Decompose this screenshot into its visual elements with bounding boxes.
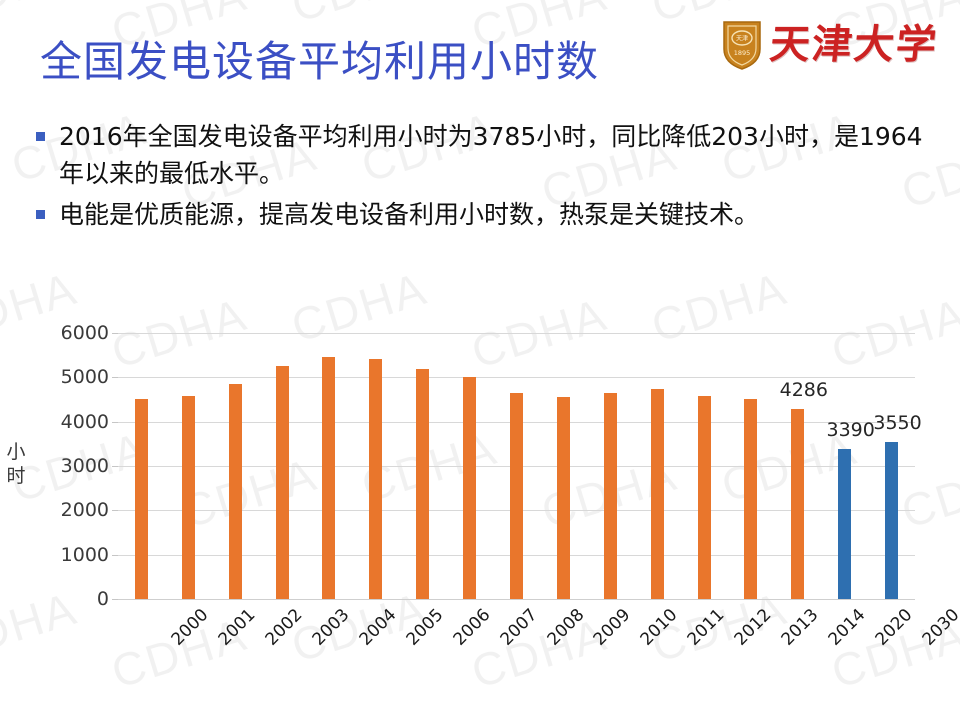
bullet-text: 2016年全国发电设备平均利用小时为3785小时，同比降低203小时，是1964… — [59, 118, 942, 192]
x-axis-tick-label: 2004 — [356, 605, 401, 650]
y-axis-tick-label: 5000 — [61, 366, 109, 388]
x-axis-tick-label: 2030 — [918, 605, 960, 650]
x-axis-tick-label: 2005 — [403, 605, 448, 650]
bar — [744, 399, 757, 599]
x-axis-tick-label: 2012 — [731, 605, 776, 650]
x-axis-tick-label: 2003 — [309, 605, 354, 650]
grid-line — [118, 333, 915, 334]
x-axis-tick-label: 2000 — [168, 605, 213, 650]
x-axis-tick-label: 2001 — [215, 605, 260, 650]
y-tick-mark — [112, 555, 118, 556]
y-tick-mark — [112, 422, 118, 423]
y-axis-tick-label: 0 — [97, 588, 109, 610]
bar — [885, 442, 898, 599]
y-tick-mark — [112, 466, 118, 467]
shield-year-text: 1895 — [734, 49, 751, 57]
bar — [135, 399, 148, 599]
data-label: 3550 — [873, 412, 921, 434]
bullet-marker-icon — [36, 210, 45, 219]
shield-icon: 天津 1895 — [722, 19, 762, 71]
slide-canvas: CDHACDHACDHACDHACDHACDHACDHACDHACDHACDHA… — [0, 0, 960, 720]
x-axis-tick-label: 2010 — [637, 605, 682, 650]
bar — [276, 366, 289, 599]
bullet-item: 2016年全国发电设备平均利用小时为3785小时，同比降低203小时，是1964… — [22, 118, 942, 192]
bar — [604, 393, 617, 599]
bar — [557, 397, 570, 599]
bullet-marker-icon — [36, 132, 45, 141]
y-axis-tick-label: 1000 — [61, 544, 109, 566]
data-label: 3390 — [826, 419, 874, 441]
y-tick-mark — [112, 599, 118, 600]
bar — [369, 359, 382, 600]
y-axis-tick-label: 3000 — [61, 455, 109, 477]
bar — [791, 409, 804, 599]
x-axis-tick-label: 2009 — [590, 605, 635, 650]
page-title: 全国发电设备平均利用小时数 — [40, 38, 599, 86]
bar — [229, 384, 242, 599]
y-tick-mark — [112, 377, 118, 378]
data-label: 4286 — [780, 379, 828, 401]
y-axis-tick-label: 4000 — [61, 411, 109, 433]
x-axis-tick-label: 2011 — [684, 605, 729, 650]
x-axis-tick-label: 2014 — [824, 605, 869, 650]
bar — [322, 357, 335, 599]
y-axis-title: 小时 — [2, 440, 30, 488]
university-wordmark: 天津大学 — [767, 20, 940, 70]
x-axis-tick-label: 2020 — [871, 605, 916, 650]
x-axis-tick-label: 2008 — [543, 605, 588, 650]
y-tick-mark — [112, 510, 118, 511]
bar-chart: 小时 0100020003000400050006000200020012002… — [0, 300, 960, 700]
x-axis-tick-label: 2002 — [262, 605, 307, 650]
bar — [838, 449, 851, 599]
bullet-list: 2016年全国发电设备平均利用小时为3785小时，同比降低203小时，是1964… — [22, 118, 942, 237]
x-axis-tick-label: 2007 — [496, 605, 541, 650]
bar — [510, 393, 523, 599]
bar — [416, 369, 429, 599]
university-logo: 天津 1895 天津大学 — [722, 14, 938, 76]
y-axis-tick-label: 2000 — [61, 499, 109, 521]
grid-line — [118, 599, 915, 600]
x-axis-tick-label: 2013 — [778, 605, 823, 650]
y-axis-tick-label: 6000 — [61, 322, 109, 344]
bar — [463, 377, 476, 599]
y-tick-mark — [112, 333, 118, 334]
x-axis-tick-label: 2006 — [449, 605, 494, 650]
bar — [182, 396, 195, 599]
plot-area: 0100020003000400050006000200020012002200… — [118, 333, 915, 599]
bar — [651, 389, 664, 599]
bar — [698, 396, 711, 599]
bullet-text: 电能是优质能源，提高发电设备利用小时数，热泵是关键技术。 — [59, 196, 759, 233]
bullet-item: 电能是优质能源，提高发电设备利用小时数，热泵是关键技术。 — [22, 196, 942, 233]
svg-text:天津: 天津 — [736, 36, 748, 43]
